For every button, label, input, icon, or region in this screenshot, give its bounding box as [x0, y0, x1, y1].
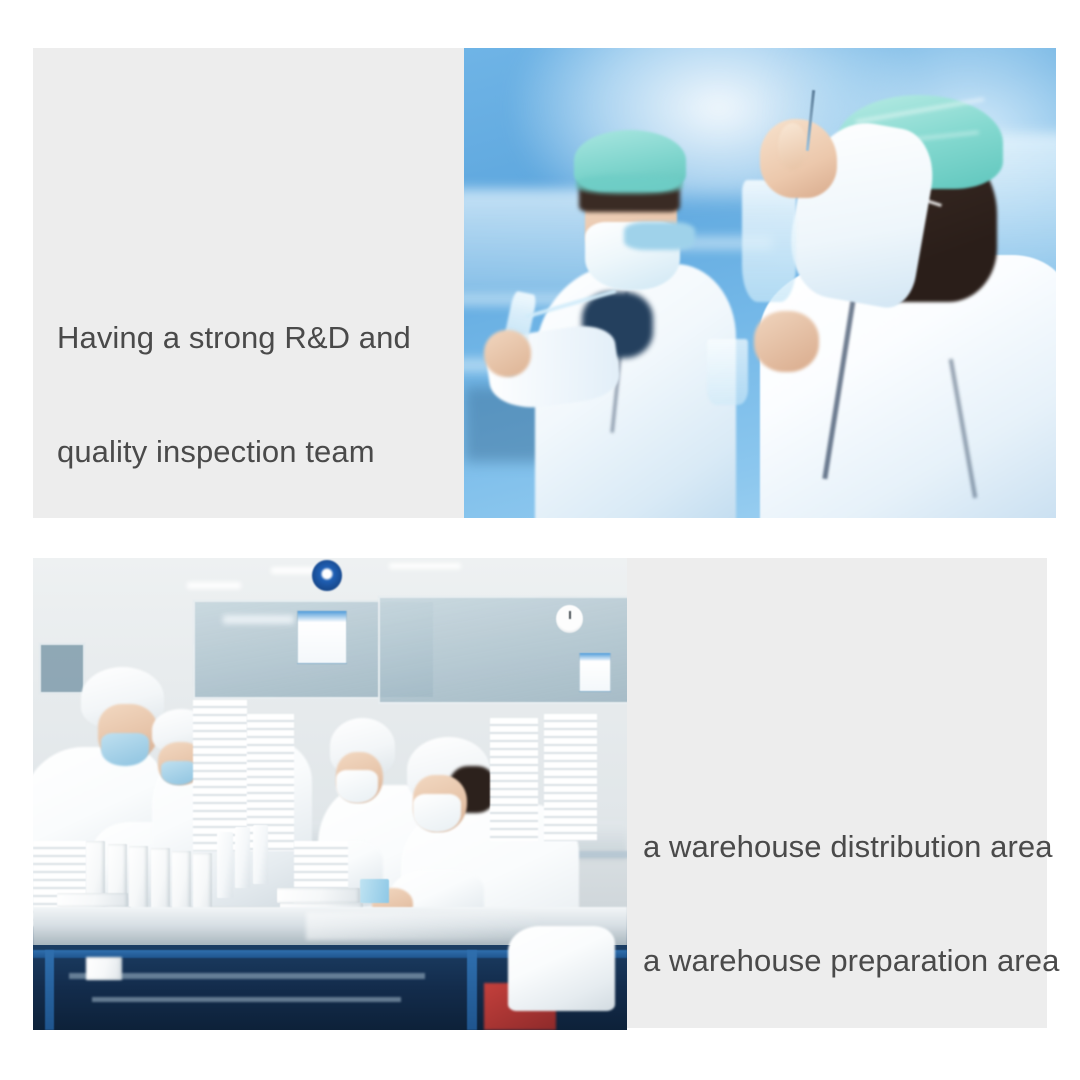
notice-board-2: [579, 652, 611, 692]
under-table-paper: [86, 957, 122, 981]
product-tube-2: [235, 827, 250, 888]
lab-qc-team-photo: [464, 48, 1056, 518]
product-in-hand: [360, 879, 390, 903]
box-stack-3: [490, 718, 538, 841]
flat-box-1: [277, 888, 360, 902]
table-reflection: [306, 912, 544, 940]
cleanroom-window-side: [39, 643, 85, 694]
table-cross-rail-1: [69, 973, 425, 979]
table-leg-1: [45, 950, 55, 1030]
page-root: Having a strong R&D and quality inspecti…: [0, 0, 1080, 1080]
box-stack-4: [544, 714, 597, 841]
flat-box-3: [57, 893, 128, 907]
ceiling-light-1: [187, 582, 240, 590]
caption-bottom: a warehouse distribution area a warehous…: [643, 752, 1043, 1056]
lab-beaker: [707, 339, 748, 405]
technician-1-hand: [484, 330, 531, 377]
lab-flask: [742, 180, 795, 302]
worker-1-face-mask: [101, 733, 149, 766]
worker-3-face-mask: [336, 770, 378, 803]
technician-2-lower-hand: [754, 311, 819, 372]
table-leg-2: [467, 950, 478, 1030]
caption-top-line-1: Having a strong R&D and: [57, 319, 457, 357]
worker-4-face-mask: [413, 794, 461, 832]
technician-1-mask-band: [624, 222, 695, 250]
ceiling-light-3: [389, 563, 460, 570]
caption-top-line-2: quality inspection team: [57, 433, 457, 471]
notice-board-1: [297, 610, 347, 664]
technician-1-hairnet-band: [576, 175, 683, 194]
caption-bottom-line-2: a warehouse preparation area: [643, 942, 1043, 980]
table-cross-rail-2: [92, 997, 401, 1002]
product-tube-3: [253, 825, 268, 884]
wall-clock-icon: [556, 605, 583, 632]
warehouse-packing-photo: [33, 558, 627, 1030]
safety-sign-icon: [312, 560, 342, 591]
lab-background-cabinet: [464, 189, 594, 292]
caption-bottom-line-1: a warehouse distribution area: [643, 828, 1043, 866]
cleanroom-window-1-reflection: [223, 615, 294, 624]
worker-4-coat-hem: [508, 926, 615, 1011]
worker-2-face-mask: [161, 761, 197, 785]
product-tube-1: [217, 832, 232, 898]
caption-top: Having a strong R&D and quality inspecti…: [57, 243, 457, 547]
